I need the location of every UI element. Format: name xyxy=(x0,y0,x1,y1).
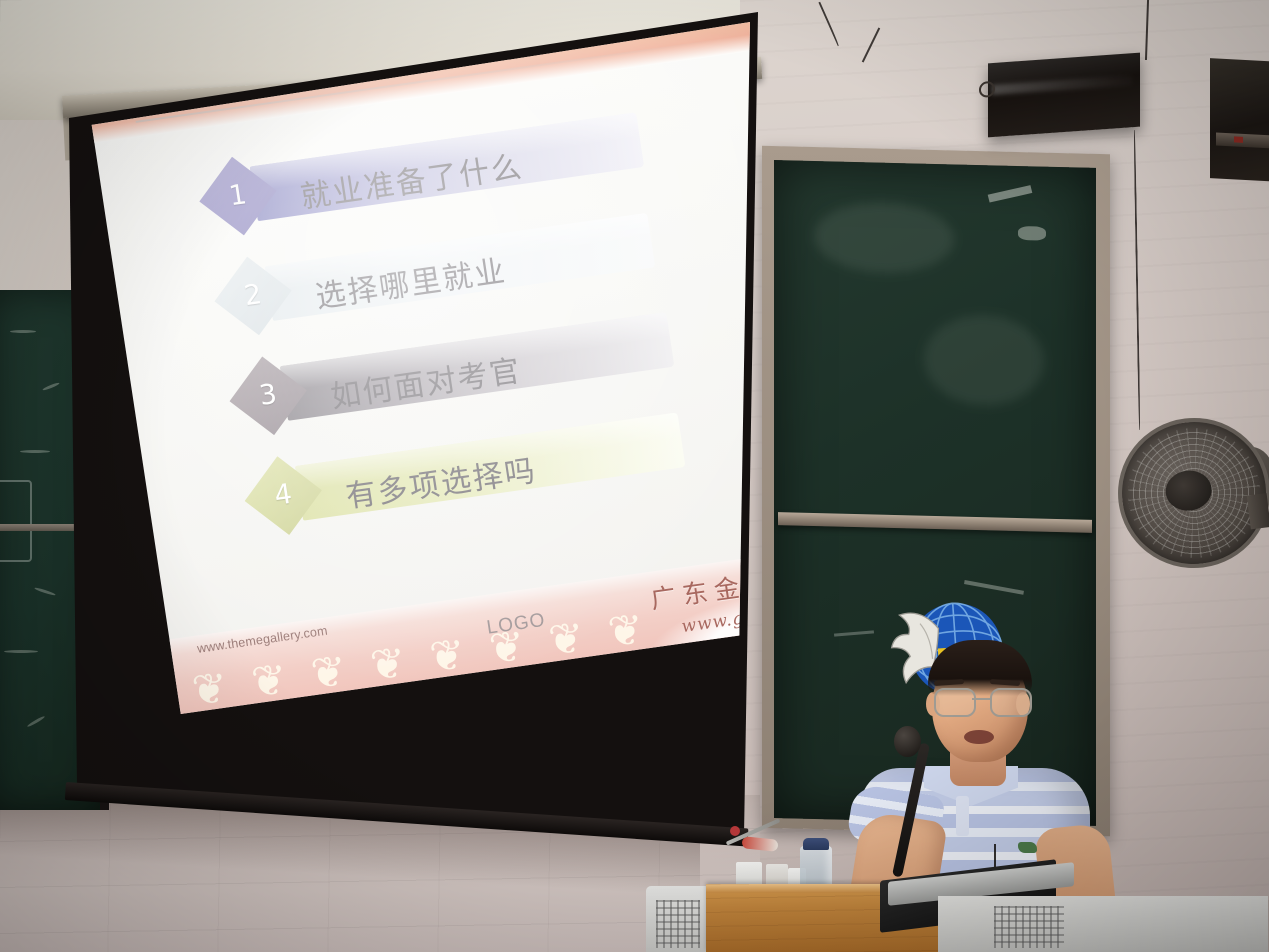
chalk-mark xyxy=(34,587,56,597)
podium-cabinet-left xyxy=(646,886,712,952)
chalk-scratch xyxy=(988,185,1033,202)
water-bottle-cap[interactable] xyxy=(803,838,829,850)
chalk-mark xyxy=(10,330,36,333)
item-number: 3 xyxy=(257,378,279,412)
wall-speaker-right xyxy=(1210,58,1269,182)
item-number: 2 xyxy=(242,278,264,312)
speaker-sheen xyxy=(992,75,1132,95)
slide-footer: ❦ ❦ ❦ ❦ ❦ ❦ ❦ ❦ www.themegallery.com LOG… xyxy=(169,543,766,714)
chalk-smudge xyxy=(924,314,1044,407)
chalk-mark xyxy=(20,450,50,453)
cabinet-vent xyxy=(656,900,700,948)
fan-wall-mount xyxy=(1247,493,1269,529)
chalk-mark xyxy=(27,715,46,728)
speaker-bracket xyxy=(979,81,995,98)
projection-screen-surface[interactable]: 需思考的问题 1 就业准备了什么 2 xyxy=(60,0,766,845)
podium-cabinet-right xyxy=(938,896,1268,952)
cabinet-vent xyxy=(994,906,1064,948)
microphone-head[interactable] xyxy=(894,726,921,757)
chalk-smudge xyxy=(814,201,954,274)
chalk-scratch xyxy=(1018,226,1046,241)
desk-microphone[interactable] xyxy=(730,826,740,836)
wall-fan[interactable] xyxy=(1109,409,1269,576)
eyeglass-lens-right xyxy=(990,688,1032,717)
eyeglass-lens-left xyxy=(934,688,976,717)
shirt-logo xyxy=(1018,842,1037,853)
polo-placket xyxy=(956,796,969,836)
chalk-mark xyxy=(42,382,60,392)
wall-speaker-left xyxy=(988,53,1140,138)
slide-item-list: 1 就业准备了什么 2 选择哪里就业 3 xyxy=(100,81,766,576)
presenter-mouth xyxy=(964,730,994,744)
classroom-photo-scene: 需思考的问题 1 就业准备了什么 2 xyxy=(0,0,1269,952)
item-number: 1 xyxy=(227,178,249,212)
item-number: 4 xyxy=(272,478,294,512)
eyeglasses-icon xyxy=(934,688,1028,714)
chalk-mark xyxy=(4,650,38,653)
chalk-writing-box xyxy=(0,480,32,562)
chalk-ledge-right xyxy=(778,512,1092,533)
speaker-led xyxy=(1234,136,1243,142)
eyeglass-bridge xyxy=(972,698,990,700)
